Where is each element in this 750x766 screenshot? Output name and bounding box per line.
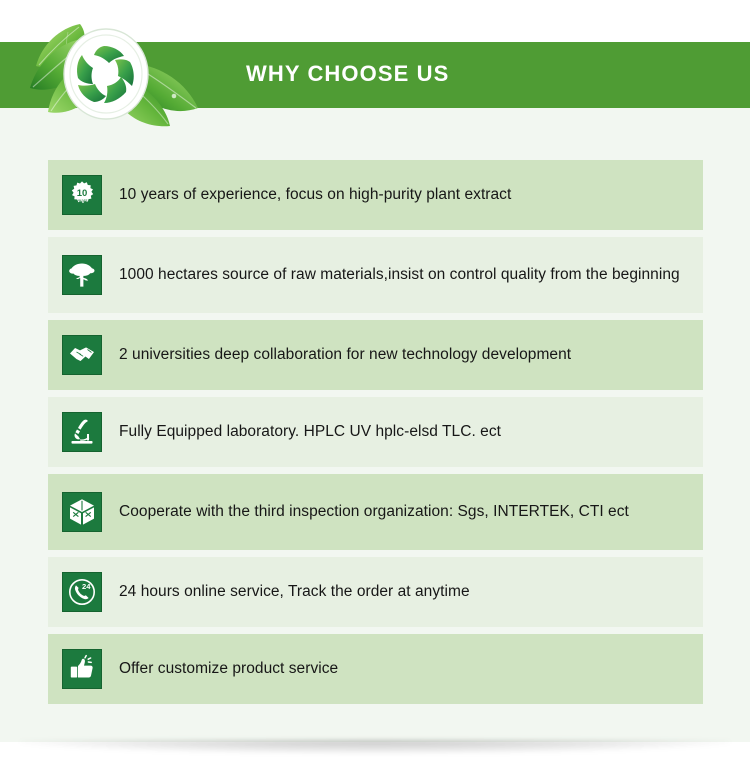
feature-text: 2 universities deep collaboration for ne… xyxy=(119,344,571,366)
badge-number: 10 xyxy=(77,188,88,199)
ten-years-badge-icon: 10 years xyxy=(62,175,102,215)
feature-row[interactable]: Fully Equipped laboratory. HPLC UV hplc-… xyxy=(48,397,703,467)
green-leaf-recycle-logo-icon xyxy=(8,16,228,128)
feature-row[interactable]: Offer customize product service xyxy=(48,634,703,704)
feature-row[interactable]: Cooperate with the third inspection orga… xyxy=(48,474,703,550)
brand-logo xyxy=(8,16,228,128)
panel-shadow xyxy=(20,740,730,754)
24-hour-phone-clock-icon: 24 xyxy=(62,572,102,612)
microscope-icon xyxy=(62,412,102,452)
feature-row[interactable]: 10 years 10 years of experience, focus o… xyxy=(48,160,703,230)
cube-box-icon xyxy=(62,492,102,532)
feature-text: 24 hours online service, Track the order… xyxy=(119,581,470,603)
feature-row[interactable]: 2 universities deep collaboration for ne… xyxy=(48,320,703,390)
feature-text: 1000 hectares source of raw materials,in… xyxy=(119,264,680,286)
feature-text: Cooperate with the third inspection orga… xyxy=(119,501,629,523)
feature-text: Fully Equipped laboratory. HPLC UV hplc-… xyxy=(119,421,501,443)
why-choose-us-page: WHY CHOOSE US xyxy=(0,0,750,766)
badge-unit: years xyxy=(76,198,88,203)
page-title: WHY CHOOSE US xyxy=(246,61,449,87)
thumbs-up-icon xyxy=(62,649,102,689)
feature-row[interactable]: 24 24 hours online service, Track the or… xyxy=(48,557,703,627)
feature-text: 10 years of experience, focus on high-pu… xyxy=(119,184,511,206)
feature-text: Offer customize product service xyxy=(119,658,338,680)
tree-icon xyxy=(62,255,102,295)
svg-text:24: 24 xyxy=(82,582,91,591)
handshake-icon xyxy=(62,335,102,375)
feature-row[interactable]: 1000 hectares source of raw materials,in… xyxy=(48,237,703,313)
feature-list: 10 years 10 years of experience, focus o… xyxy=(48,160,703,711)
